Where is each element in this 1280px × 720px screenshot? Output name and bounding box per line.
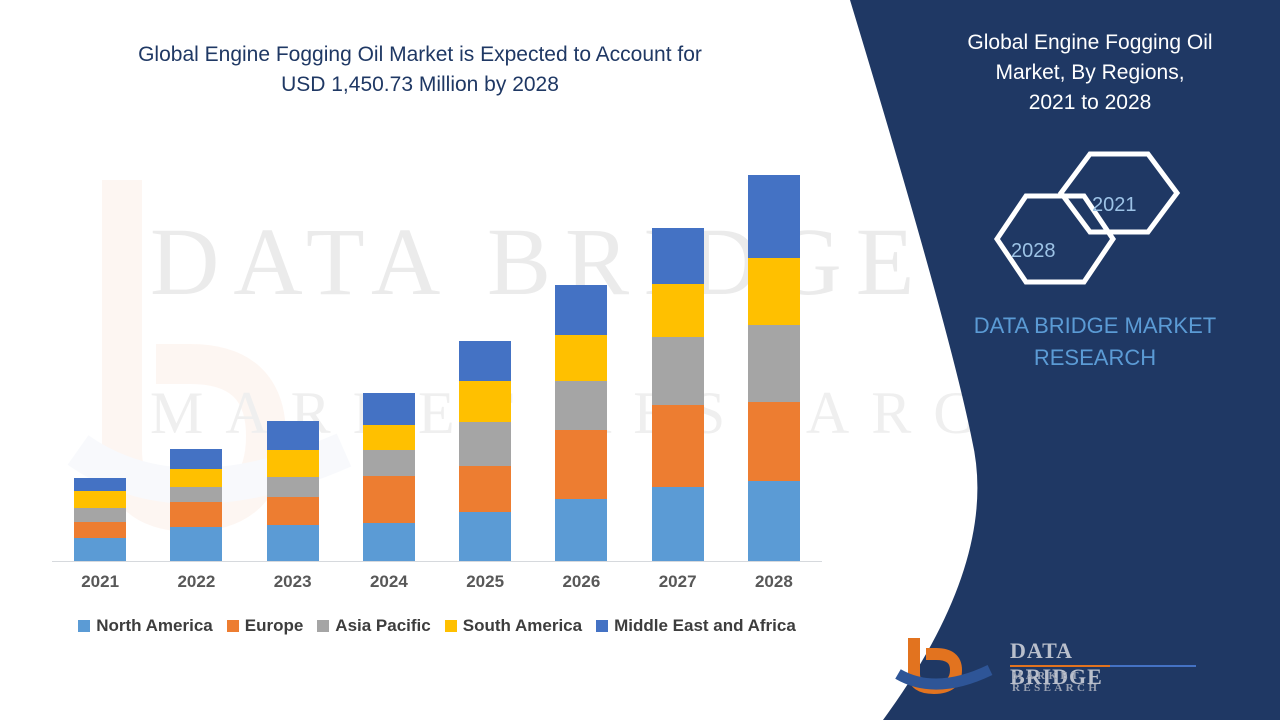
x-axis-label: 2024 bbox=[346, 572, 432, 592]
legend-label: South America bbox=[463, 616, 582, 636]
stacked-bar[interactable] bbox=[652, 228, 704, 561]
legend-label: Asia Pacific bbox=[335, 616, 430, 636]
bar-segment[interactable] bbox=[555, 381, 607, 429]
bar-segment[interactable] bbox=[363, 450, 415, 476]
legend-item[interactable]: North America bbox=[78, 616, 213, 636]
bar-segment[interactable] bbox=[459, 466, 511, 511]
stacked-bar[interactable] bbox=[748, 175, 800, 561]
bar-column bbox=[250, 150, 336, 561]
bar-column bbox=[57, 150, 143, 561]
bar-segment[interactable] bbox=[748, 481, 800, 561]
bar-segment[interactable] bbox=[74, 522, 126, 538]
bar-segment[interactable] bbox=[170, 449, 222, 469]
logo-text-bottom: MARKET RESEARCH bbox=[1012, 670, 1112, 694]
logo-rule-orange bbox=[1010, 665, 1110, 667]
bar-segment[interactable] bbox=[74, 478, 126, 491]
logo-rule-blue bbox=[1110, 665, 1196, 667]
bar-segment[interactable] bbox=[652, 405, 704, 487]
right-title-line-3: 2021 to 2028 bbox=[920, 88, 1260, 118]
bar-segment[interactable] bbox=[652, 284, 704, 337]
bar-column bbox=[442, 150, 528, 561]
chart-plot-area bbox=[52, 150, 822, 562]
legend-swatch-icon bbox=[227, 620, 239, 632]
bar-segment[interactable] bbox=[267, 450, 319, 477]
legend-item[interactable]: Middle East and Africa bbox=[596, 616, 796, 636]
bar-segment[interactable] bbox=[170, 527, 222, 561]
bar-segment[interactable] bbox=[555, 430, 607, 500]
x-axis-label: 2025 bbox=[442, 572, 528, 592]
right-info-panel: Global Engine Fogging Oil Market, By Reg… bbox=[800, 0, 1280, 720]
x-axis-label: 2027 bbox=[635, 572, 721, 592]
bar-segment[interactable] bbox=[459, 341, 511, 381]
bar-column bbox=[153, 150, 239, 561]
right-panel-title: Global Engine Fogging Oil Market, By Reg… bbox=[920, 28, 1260, 117]
bar-column bbox=[635, 150, 721, 561]
bar-segment[interactable] bbox=[748, 325, 800, 402]
x-axis-label: 2021 bbox=[57, 572, 143, 592]
stacked-bar[interactable] bbox=[170, 449, 222, 561]
bar-segment[interactable] bbox=[363, 476, 415, 523]
bar-segment[interactable] bbox=[555, 335, 607, 381]
bar-segment[interactable] bbox=[74, 508, 126, 522]
legend-swatch-icon bbox=[596, 620, 608, 632]
bar-segment[interactable] bbox=[74, 538, 126, 561]
right-panel-brand: DATA BRIDGE MARKET RESEARCH bbox=[940, 310, 1250, 374]
bar-segment[interactable] bbox=[459, 512, 511, 561]
chart-title-line-1: Global Engine Fogging Oil Market is Expe… bbox=[40, 40, 800, 70]
chart-legend: North AmericaEuropeAsia PacificSouth Ame… bbox=[52, 616, 822, 636]
x-axis-line bbox=[52, 561, 822, 562]
bar-segment[interactable] bbox=[267, 421, 319, 450]
legend-label: Middle East and Africa bbox=[614, 616, 796, 636]
x-axis-label: 2022 bbox=[153, 572, 239, 592]
x-axis-label: 2023 bbox=[250, 572, 336, 592]
legend-item[interactable]: Asia Pacific bbox=[317, 616, 430, 636]
slide-root: DATA BRIDGE MARKET RESEARCH Global Engin… bbox=[0, 0, 1280, 720]
hexagon-group: 2021 2028 bbox=[978, 150, 1208, 285]
company-logo: DATA BRIDGE MARKET RESEARCH bbox=[892, 634, 1112, 696]
brand-line-2: RESEARCH bbox=[940, 342, 1250, 374]
bar-segment[interactable] bbox=[363, 425, 415, 450]
stacked-bar[interactable] bbox=[459, 341, 511, 561]
bar-segment[interactable] bbox=[748, 175, 800, 258]
legend-swatch-icon bbox=[317, 620, 329, 632]
bar-segment[interactable] bbox=[170, 487, 222, 502]
right-title-line-1: Global Engine Fogging Oil bbox=[920, 28, 1260, 58]
bar-segment[interactable] bbox=[267, 477, 319, 498]
bar-column bbox=[538, 150, 624, 561]
bridge-b-logo-icon bbox=[892, 634, 1004, 696]
brand-line-1: DATA BRIDGE MARKET bbox=[940, 310, 1250, 342]
bar-segment[interactable] bbox=[363, 393, 415, 426]
hexagon-label-lower: 2028 bbox=[1011, 240, 1056, 263]
legend-swatch-icon bbox=[78, 620, 90, 632]
bar-segment[interactable] bbox=[170, 469, 222, 487]
stacked-bar[interactable] bbox=[555, 285, 607, 561]
bar-segment[interactable] bbox=[555, 499, 607, 561]
right-title-line-2: Market, By Regions, bbox=[920, 58, 1260, 88]
bar-group bbox=[52, 150, 822, 561]
legend-item[interactable]: Europe bbox=[227, 616, 304, 636]
right-panel-content: Global Engine Fogging Oil Market, By Reg… bbox=[800, 0, 1280, 720]
chart-panel: Global Engine Fogging Oil Market is Expe… bbox=[0, 0, 860, 720]
x-axis-label: 2026 bbox=[538, 572, 624, 592]
legend-swatch-icon bbox=[445, 620, 457, 632]
bar-segment[interactable] bbox=[555, 285, 607, 335]
bar-segment[interactable] bbox=[267, 497, 319, 525]
bar-segment[interactable] bbox=[652, 228, 704, 283]
chart-title-line-2: USD 1,450.73 Million by 2028 bbox=[40, 70, 800, 100]
x-axis-labels: 20212022202320242025202620272028 bbox=[52, 572, 822, 592]
legend-label: North America bbox=[96, 616, 213, 636]
stacked-bar[interactable] bbox=[74, 478, 126, 561]
bar-segment[interactable] bbox=[459, 422, 511, 466]
legend-label: Europe bbox=[245, 616, 304, 636]
bar-segment[interactable] bbox=[748, 402, 800, 481]
hexagon-label-upper: 2021 bbox=[1092, 194, 1137, 217]
bar-segment[interactable] bbox=[267, 525, 319, 561]
legend-item[interactable]: South America bbox=[445, 616, 582, 636]
stacked-bar[interactable] bbox=[363, 393, 415, 561]
bar-segment[interactable] bbox=[170, 502, 222, 527]
chart-title: Global Engine Fogging Oil Market is Expe… bbox=[40, 40, 800, 100]
bar-column bbox=[346, 150, 432, 561]
bar-segment[interactable] bbox=[652, 487, 704, 561]
bar-segment[interactable] bbox=[652, 337, 704, 405]
stacked-bar[interactable] bbox=[267, 421, 319, 561]
bar-segment[interactable] bbox=[459, 381, 511, 422]
bar-segment[interactable] bbox=[748, 258, 800, 325]
bar-segment[interactable] bbox=[74, 491, 126, 507]
hexagon-outlines-icon bbox=[978, 150, 1208, 285]
bar-segment[interactable] bbox=[363, 523, 415, 561]
